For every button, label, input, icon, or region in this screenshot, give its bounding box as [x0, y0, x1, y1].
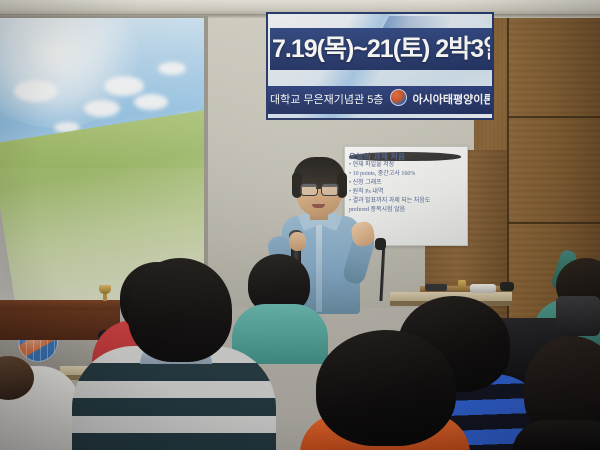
glasses-lens-left	[300, 183, 318, 196]
banner-venue-text: 대학교 무은재기념관 5층	[270, 89, 383, 111]
speaker-shirt-placket	[316, 218, 322, 312]
attendee-striped-polo-head	[128, 258, 232, 362]
speaker-eyebrow-right	[322, 179, 336, 181]
whiteboard-line: • 현재 파일을 저장	[349, 161, 461, 170]
desk-item-phone	[425, 284, 447, 291]
whiteboard-line: • 10 points, 중간고사 160%	[349, 170, 461, 179]
glasses-lens-right	[321, 183, 339, 196]
podium-top	[0, 300, 120, 310]
desk-item-dark-object	[500, 282, 514, 291]
speaker-eyebrow-left	[301, 179, 315, 181]
whiteboard-line: • 결과 발표까지 과제 되는 처음도	[349, 197, 461, 206]
speaker-left-hand	[289, 232, 306, 251]
banner-info-row: 대학교 무은재기념관 5층 아시아태평양이론물리센터	[270, 89, 490, 111]
speaker-mouth	[312, 204, 325, 208]
whiteboard-heading: 오늘의 과제 처음	[349, 152, 461, 161]
whiteboard-line: • 원칙 Ps 내역	[349, 188, 461, 197]
attendee-orange-shirt-head	[316, 330, 456, 446]
apctp-globe-seal-icon	[390, 89, 407, 106]
whiteboard-line: • 신청 그래프	[349, 179, 461, 188]
wood-seam-horizontal-bottom	[508, 222, 600, 224]
whiteboard-line: prefered 중복시험 않음	[349, 206, 461, 215]
wood-seam-horizontal-top	[508, 116, 600, 118]
trophy-icon	[99, 285, 111, 294]
glasses-bridge	[316, 187, 322, 189]
lecture-room-photo: 7.19(목)~21(토) 2박3일간 대학교 무은재기념관 5층 아시아태평양…	[0, 0, 600, 450]
banner-date-text: 7.19(목)~21(토) 2박3일간	[272, 31, 490, 67]
microphone-stand-head-icon	[375, 238, 386, 250]
desk-item-gold-object	[458, 280, 466, 291]
banner-organization-text: 아시아태평양이론물리센터	[413, 89, 490, 111]
chair-far-right	[556, 296, 600, 336]
desk-item-cloth	[470, 284, 496, 293]
